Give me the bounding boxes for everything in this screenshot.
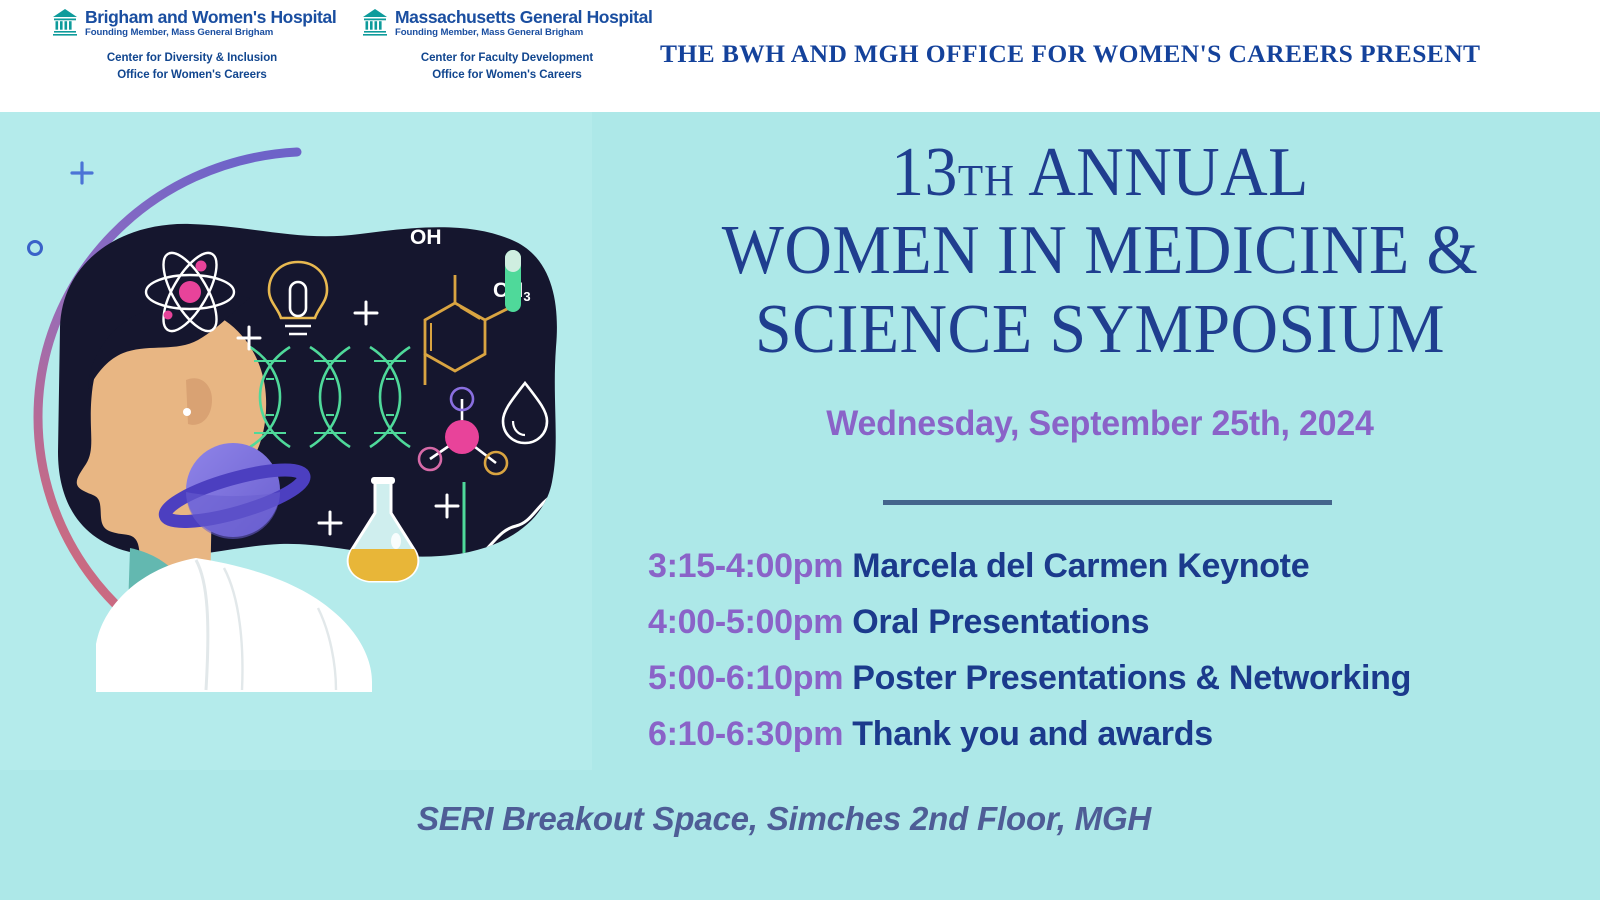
schedule-description: Oral Presentations [843, 603, 1149, 641]
mgh-logo-row: Massachusetts General Hospital Founding … [362, 8, 652, 38]
title-line-2: WOMEN IN MEDICINE & [630, 212, 1570, 290]
test-tube-icon [505, 250, 521, 312]
schedule-time: 3:15-4:00pm [648, 547, 843, 585]
bwh-center-line-1: Center for Diversity & Inclusion [52, 50, 332, 67]
venue-location: SERI Breakout Space, Simches 2nd Floor, … [0, 800, 1568, 838]
bwh-logo-subtitle: Founding Member, Mass General Brigham [85, 28, 336, 38]
schedule-time: 6:10-6:30pm [648, 715, 843, 753]
hospital-building-icon [52, 8, 78, 38]
schedule-row: 6:10-6:30pm Thank you and awards [648, 706, 1588, 762]
title-line-1-rest: ANNUAL [1015, 134, 1309, 211]
schedule-description: Poster Presentations & Networking [843, 659, 1411, 697]
mgh-logo-words: Massachusetts General Hospital Founding … [395, 8, 652, 37]
woman-scientist-profile-illustration: OH CH3 [0, 112, 592, 770]
schedule-time: 5:00-6:10pm [648, 659, 843, 697]
mgh-logo-subtitle: Founding Member, Mass General Brigham [395, 28, 652, 38]
bwh-center-line-2: Office for Women's Careers [52, 67, 332, 84]
mgh-office-lines: Center for Faculty Development Office fo… [362, 50, 652, 85]
bwh-office-lines: Center for Diversity & Inclusion Office … [52, 50, 332, 85]
bwh-logo-row: Brigham and Women's Hospital Founding Me… [52, 8, 332, 38]
title-line-3: SCIENCE SYMPOSIUM [630, 291, 1570, 369]
schedule-description: Marcela del Carmen Keynote [843, 547, 1309, 585]
mgh-center-line-1: Center for Faculty Development [362, 50, 652, 67]
schedule-description: Thank you and awards [843, 715, 1213, 753]
schedule-row: 5:00-6:10pm Poster Presentations & Netwo… [648, 650, 1588, 706]
header-band: Brigham and Women's Hospital Founding Me… [0, 0, 1600, 112]
bwh-logo-words: Brigham and Women's Hospital Founding Me… [85, 8, 336, 37]
presenter-headline: THE BWH AND MGH OFFICE FOR WOMEN'S CAREE… [660, 41, 1578, 69]
oh-label: OH [410, 226, 442, 249]
schedule-time: 4:00-5:00pm [648, 603, 843, 641]
event-title-block: 13TH ANNUAL WOMEN IN MEDICINE & SCIENCE … [600, 134, 1600, 369]
hospital-building-icon [362, 8, 388, 38]
title-number: 13 [891, 134, 958, 211]
mgh-logo-name: Massachusetts General Hospital [395, 8, 652, 26]
event-date: Wednesday, September 25th, 2024 [615, 404, 1585, 444]
title-line-1: 13TH ANNUAL [630, 134, 1570, 212]
schedule-list: 3:15-4:00pm Marcela del Carmen Keynote 4… [648, 538, 1588, 762]
bwh-logo-name: Brigham and Women's Hospital [85, 8, 336, 26]
schedule-row: 4:00-5:00pm Oral Presentations [648, 594, 1588, 650]
bwh-logo-block: Brigham and Women's Hospital Founding Me… [52, 8, 332, 85]
title-ordinal: TH [958, 156, 1015, 205]
section-divider [883, 500, 1332, 505]
schedule-row: 3:15-4:00pm Marcela del Carmen Keynote [648, 538, 1588, 594]
mgh-center-line-2: Office for Women's Careers [362, 67, 652, 84]
mgh-logo-block: Massachusetts General Hospital Founding … [362, 8, 652, 85]
